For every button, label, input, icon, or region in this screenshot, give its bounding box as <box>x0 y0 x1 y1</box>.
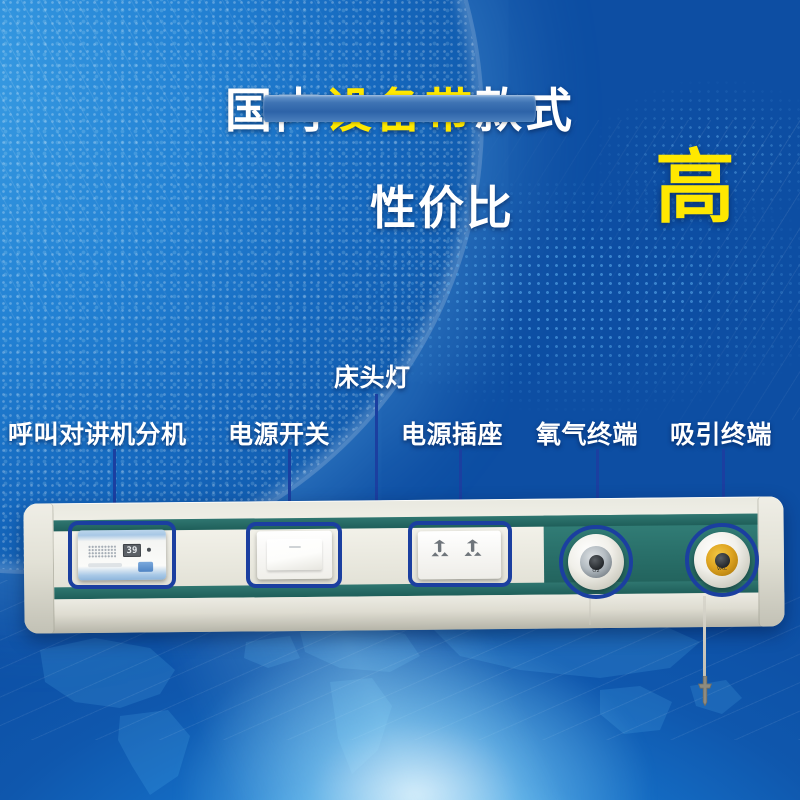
pull-cord-handle-icon[interactable] <box>694 676 716 706</box>
highlight-box-intercom <box>68 521 176 589</box>
highlight-box-power-socket <box>408 521 512 587</box>
highlight-circle-suction <box>685 523 759 597</box>
callout-label-suction: 吸引终端 <box>670 415 772 451</box>
callout-label-power-socket: 电源插座 <box>401 415 503 451</box>
panel-end-cap-left <box>23 503 54 633</box>
callout-label-bed-lamp: 床头灯 <box>334 358 411 394</box>
panel-lower-body <box>24 592 784 633</box>
callout-label-power-switch: 电源开关 <box>228 415 330 451</box>
callout-label-oxygen: 氧气终端 <box>536 415 638 451</box>
highlight-circle-oxygen <box>559 525 633 599</box>
panel-end-cap-right <box>757 496 784 626</box>
suction-pull-cord <box>703 596 706 684</box>
highlight-box-power-switch <box>246 522 342 588</box>
poster-canvas: 国内设备带款式 性价比 高 呼叫对讲机分机 电源开关 床头灯 电源插座 氧气终端… <box>0 0 800 800</box>
callout-label-intercom: 呼叫对讲机分机 <box>8 415 187 451</box>
oxygen-hose-cord <box>589 597 591 625</box>
headline-line-2-highlight: 高 <box>655 148 735 228</box>
headline-line-2: 性价比 <box>370 172 514 238</box>
bed-lamp-lens[interactable] <box>263 95 536 122</box>
